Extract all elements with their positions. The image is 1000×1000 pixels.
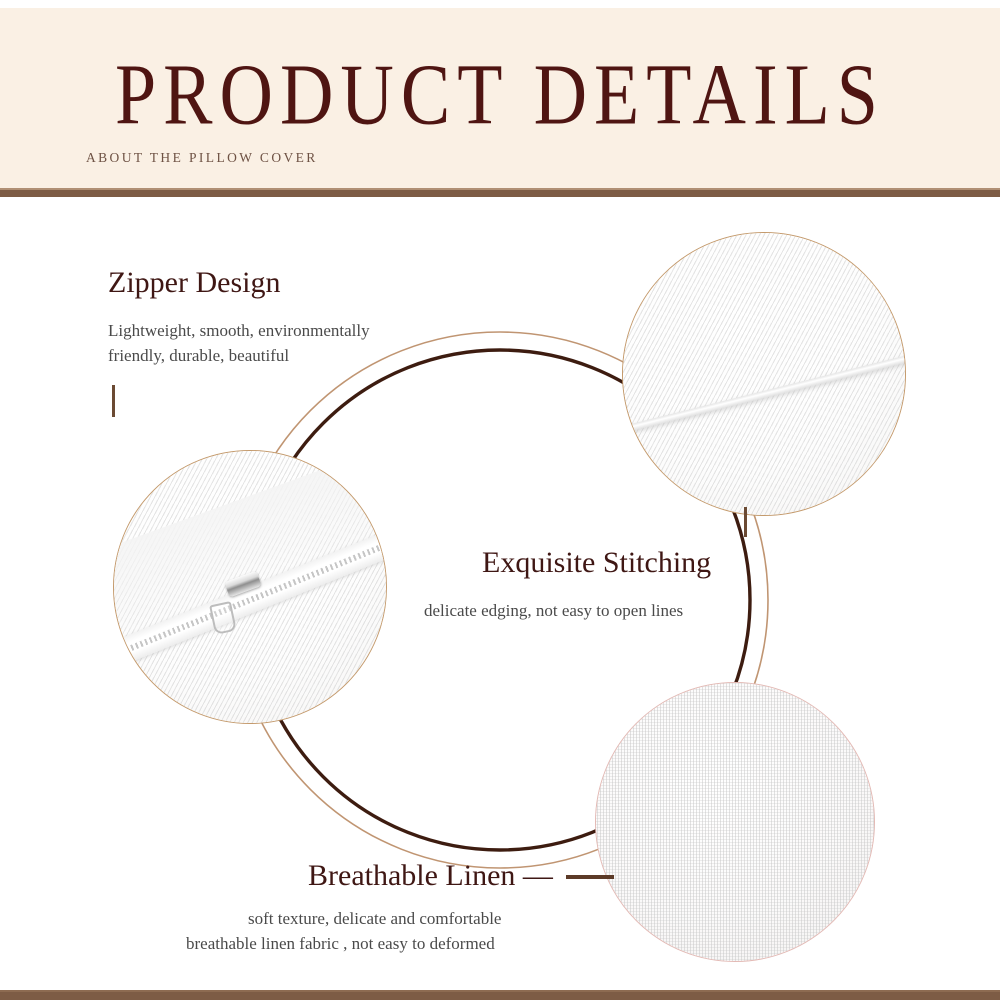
tick-mark-zipper bbox=[112, 385, 115, 417]
connector-dash-linen bbox=[566, 875, 614, 879]
feature-title-zipper: Zipper Design bbox=[108, 266, 280, 300]
feature-desc-stitching: delicate edging, not easy to open lines bbox=[424, 598, 683, 623]
feature-title-stitching: Exquisite Stitching bbox=[482, 546, 711, 580]
linen-weave-texture bbox=[595, 682, 875, 962]
photo-linen bbox=[595, 682, 875, 962]
photo-zipper-image bbox=[114, 451, 386, 723]
photo-linen-image bbox=[596, 683, 874, 961]
photo-stitching-image bbox=[623, 233, 905, 515]
product-details-infographic: PRODUCT DETAILS ABOUT THE PILLOW COVER bbox=[0, 0, 1000, 1000]
feature-desc-zipper: Lightweight, smooth, environmentally fri… bbox=[108, 318, 370, 368]
feature-desc-linen-line1: soft texture, delicate and comfortable bbox=[248, 906, 501, 931]
photo-stitching bbox=[622, 232, 906, 516]
feature-desc-zipper-line1: Lightweight, smooth, environmentally bbox=[108, 318, 370, 343]
feature-desc-zipper-line2: friendly, durable, beautiful bbox=[108, 343, 370, 368]
feature-title-linen: Breathable Linen — bbox=[308, 859, 553, 893]
feature-desc-linen-line2: breathable linen fabric , not easy to de… bbox=[186, 931, 495, 956]
fabric-weave-texture bbox=[622, 232, 906, 516]
header-divider-rule bbox=[0, 188, 1000, 197]
tick-mark-stitching bbox=[744, 507, 747, 537]
footer-divider-rule bbox=[0, 990, 1000, 1000]
page-subtitle: ABOUT THE PILLOW COVER bbox=[86, 150, 318, 166]
photo-zipper bbox=[113, 450, 387, 724]
page-title: PRODUCT DETAILS bbox=[0, 48, 1000, 142]
